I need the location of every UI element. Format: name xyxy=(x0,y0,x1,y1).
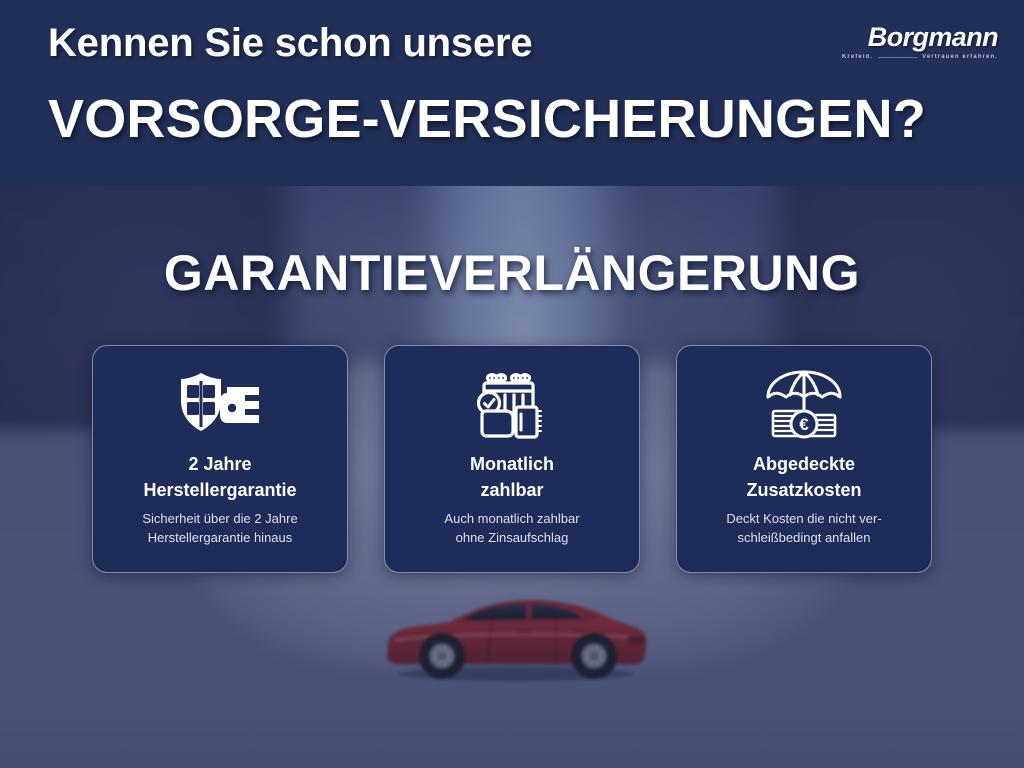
feature-card-title: Monatlich zahlbar xyxy=(460,452,564,503)
feature-card-warranty[interactable]: 2 Jahre Herstellergarantie Sicherheit üb… xyxy=(92,345,348,573)
feature-card-list: 2 Jahre Herstellergarantie Sicherheit üb… xyxy=(0,345,1024,573)
brand-logo-tagline-separator xyxy=(878,57,917,58)
calendar-payment-icon xyxy=(472,368,552,440)
page-title: GARANTIEVERLÄNGERUNG xyxy=(0,244,1024,302)
feature-card-title-line1: Monatlich xyxy=(470,454,554,474)
shield-engine-icon xyxy=(177,368,263,440)
feature-card-extra-costs[interactable]: € Abgedeckte Zusatzkosten Deckt Kosten d… xyxy=(676,345,932,573)
feature-card-desc-line2: Herstellergarantie hinaus xyxy=(148,530,293,545)
promo-banner: Kennen Sie schon unsere VORSORGE-VERSICH… xyxy=(0,0,1024,768)
brand-logo[interactable]: Borgmann Krefeld. Vertrauen erfahren. xyxy=(842,24,998,60)
feature-card-title-line2: Zusatzkosten xyxy=(746,480,861,500)
header-title: VORSORGE-VERSICHERUNGEN? xyxy=(48,88,926,150)
feature-card-desc-line1: Auch monatlich zahlbar xyxy=(444,511,579,526)
feature-card-desc-line1: Deckt Kosten die nicht ver- xyxy=(726,511,881,526)
brand-logo-tagline: Krefeld. Vertrauen erfahren. xyxy=(842,54,998,60)
feature-card-desc-line2: ohne Zinsaufschlag xyxy=(456,530,569,545)
header-subtitle: Kennen Sie schon unsere xyxy=(48,21,532,66)
feature-card-title-line1: 2 Jahre xyxy=(188,454,251,474)
header-band: Kennen Sie schon unsere VORSORGE-VERSICH… xyxy=(0,0,1024,186)
feature-card-description: Sicherheit über die 2 Jahre Herstellerga… xyxy=(130,510,309,548)
svg-text:€: € xyxy=(799,415,809,434)
feature-card-description: Deckt Kosten die nicht ver- schleißbedin… xyxy=(714,510,893,548)
feature-card-desc-line1: Sicherheit über die 2 Jahre xyxy=(142,511,297,526)
brand-logo-tagline-right: Vertrauen erfahren. xyxy=(922,54,998,60)
feature-card-title-line2: zahlbar xyxy=(480,480,543,500)
feature-card-monthly-payment[interactable]: Monatlich zahlbar Auch monatlich zahlbar… xyxy=(384,345,640,573)
feature-card-description: Auch monatlich zahlbar ohne Zinsaufschla… xyxy=(432,510,591,548)
feature-card-title-line2: Herstellergarantie xyxy=(143,480,296,500)
feature-card-title-line1: Abgedeckte xyxy=(753,454,855,474)
feature-card-title: Abgedeckte Zusatzkosten xyxy=(736,452,871,503)
brand-logo-tagline-left: Krefeld. xyxy=(842,54,873,60)
feature-card-desc-line2: schleißbedingt anfallen xyxy=(738,530,871,545)
umbrella-coins-icon: € xyxy=(760,368,848,440)
feature-card-title: 2 Jahre Herstellergarantie xyxy=(133,452,306,503)
brand-logo-wordmark: Borgmann xyxy=(842,24,998,51)
